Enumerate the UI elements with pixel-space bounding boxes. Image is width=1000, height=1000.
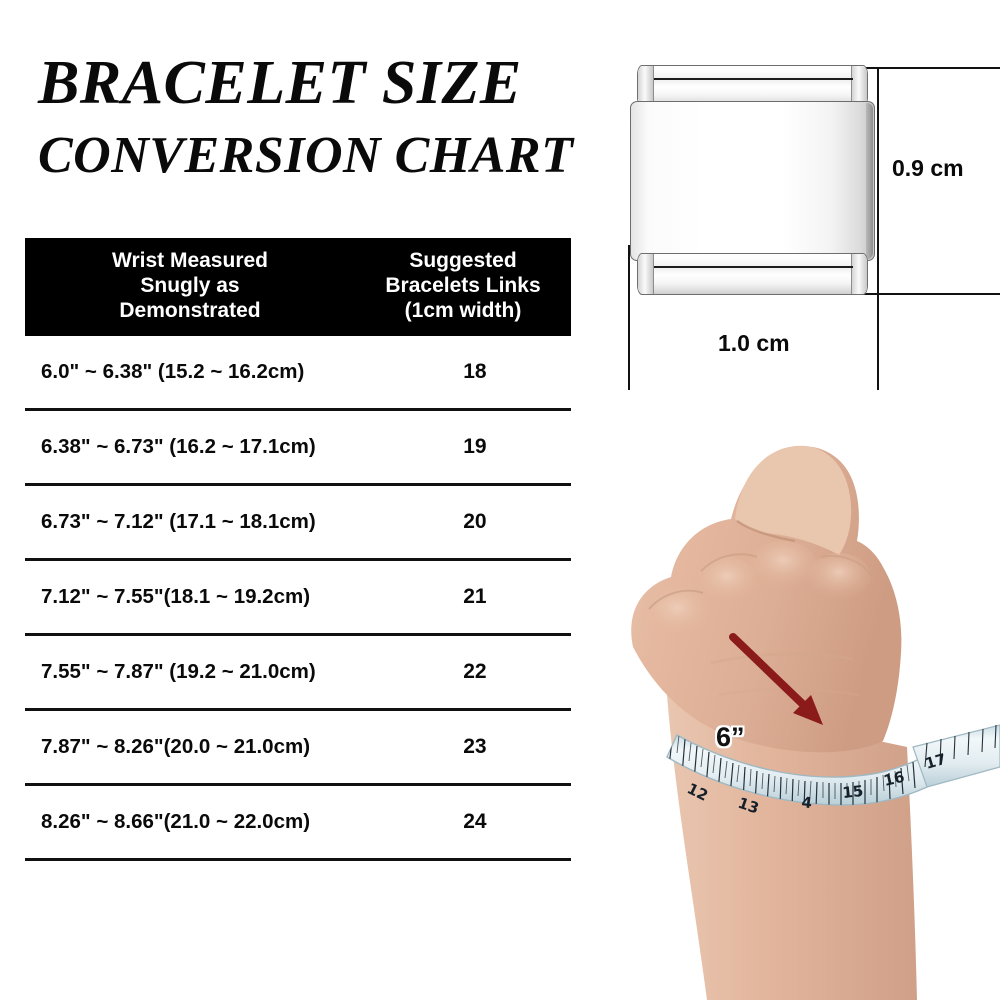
knuckle: [807, 553, 871, 601]
header-wrist-line-1: Wrist Measured: [25, 248, 355, 273]
charm-rail-cap-right: [851, 66, 867, 106]
knuckle: [643, 587, 711, 639]
title-line-1: BRACELET SIZE: [38, 52, 598, 114]
cell-wrist-range: 6.0" ~ 6.38" (15.2 ~ 16.2cm): [25, 360, 379, 384]
charm-rail-cap-left: [638, 66, 654, 106]
charm-rail-groove: [654, 78, 853, 80]
table-row: 6.38" ~ 6.73" (16.2 ~ 17.1cm) 19: [25, 411, 571, 486]
cell-link-count: 18: [379, 360, 571, 384]
table-row: 7.87" ~ 8.26"(20.0 ~ 21.0cm) 23: [25, 711, 571, 786]
link-width-label: 1.0 cm: [718, 330, 790, 357]
cell-wrist-range: 7.12" ~ 7.55"(18.1 ~ 19.2cm): [25, 585, 379, 609]
dimension-line-height: [877, 67, 879, 295]
table-row: 6.0" ~ 6.38" (15.2 ~ 16.2cm) 18: [25, 336, 571, 411]
table-header-wrist: Wrist Measured Snugly as Demonstrated: [25, 248, 355, 324]
link-height-label: 0.9 cm: [892, 155, 964, 182]
header-links-line-3: (1cm width): [355, 298, 571, 323]
bracelet-link-charm: [630, 65, 875, 295]
cell-link-count: 21: [379, 585, 571, 609]
cell-link-count: 19: [379, 435, 571, 459]
charm-plate-edge-shadow: [866, 103, 873, 259]
charm-bottom-rail: [637, 253, 868, 295]
size-chart-page: BRACELET SIZE CONVERSION CHART Wrist Mea…: [0, 0, 1000, 1000]
header-wrist-line-2: Snugly as: [25, 273, 355, 298]
cell-wrist-range: 6.73" ~ 7.12" (17.1 ~ 18.1cm): [25, 510, 379, 534]
charm-rail-cap-right: [851, 254, 867, 294]
knuckle: [749, 541, 817, 589]
charm-face-plate: [630, 101, 875, 261]
table-row: 7.12" ~ 7.55"(18.1 ~ 19.2cm) 21: [25, 561, 571, 636]
header-wrist-line-3: Demonstrated: [25, 298, 355, 323]
table-header-row: Wrist Measured Snugly as Demonstrated Su…: [25, 238, 571, 336]
cell-wrist-range: 8.26" ~ 8.66"(21.0 ~ 22.0cm): [25, 810, 379, 834]
cell-link-count: 20: [379, 510, 571, 534]
title-line-2: CONVERSION CHART: [38, 130, 598, 182]
hand-illustration: 12 13 4 15 16 17: [615, 395, 1000, 1000]
cell-wrist-range: 6.38" ~ 6.73" (16.2 ~ 17.1cm): [25, 435, 379, 459]
header-links-line-2: Bracelets Links: [355, 273, 571, 298]
page-title: BRACELET SIZE CONVERSION CHART: [38, 52, 598, 182]
measure-label-6in: 6”: [716, 722, 745, 753]
cell-wrist-range: 7.55" ~ 7.87" (19.2 ~ 21.0cm): [25, 660, 379, 684]
tape-number-14: 4: [801, 793, 814, 812]
header-links-line-1: Suggested: [355, 248, 571, 273]
table-row: 7.55" ~ 7.87" (19.2 ~ 21.0cm) 22: [25, 636, 571, 711]
charm-rail-groove: [654, 266, 853, 268]
wrist-measuring-photo: 12 13 4 15 16 17: [615, 395, 1000, 1000]
table-row: 8.26" ~ 8.66"(21.0 ~ 22.0cm) 24: [25, 786, 571, 861]
cell-wrist-range: 7.87" ~ 8.26"(20.0 ~ 21.0cm): [25, 735, 379, 759]
tape-number-15: 15: [842, 782, 865, 802]
cell-link-count: 22: [379, 660, 571, 684]
charm-rail-cap-left: [638, 254, 654, 294]
dimension-line-width-right: [877, 293, 879, 390]
table-row: 6.73" ~ 7.12" (17.1 ~ 18.1cm) 20: [25, 486, 571, 561]
cell-link-count: 23: [379, 735, 571, 759]
cell-link-count: 24: [379, 810, 571, 834]
table-header-links: Suggested Bracelets Links (1cm width): [355, 248, 571, 324]
conversion-table: Wrist Measured Snugly as Demonstrated Su…: [25, 238, 571, 861]
bracelet-link-diagram: 0.9 cm 1.0 cm: [600, 40, 1000, 390]
